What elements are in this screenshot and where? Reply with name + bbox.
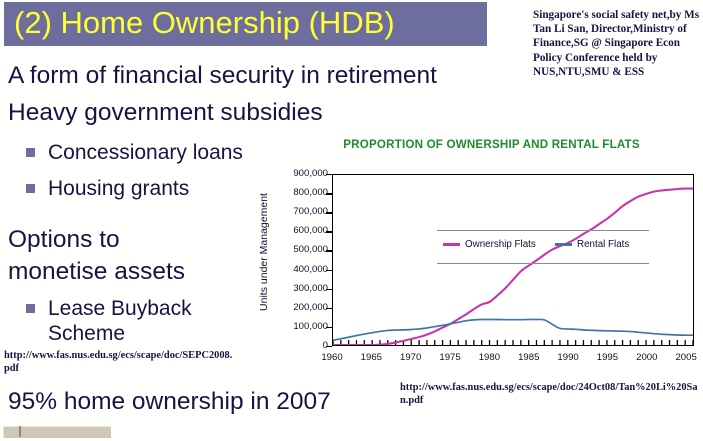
x-tick-label: 2005 (666, 352, 703, 363)
x-tick-label: 1960 (312, 352, 352, 363)
citation-note: Singapore's social safety net,by Ms Tan … (533, 8, 701, 79)
statement-government-subsidies: Heavy government subsidies (8, 99, 323, 127)
chart-container: PROPORTION OF OWNERSHIP AND RENTAL FLATS… (246, 138, 703, 378)
square-bullet-icon (26, 148, 35, 157)
x-tick-label: 1995 (587, 352, 627, 363)
list-item-label: Housing grants (48, 176, 189, 201)
list-item-label: Lease Buyback Scheme (48, 296, 192, 346)
chart-line-ownership-flats (333, 189, 693, 345)
slide-canvas: (2) Home Ownership (HDB) Singapore's soc… (0, 0, 703, 441)
statement-financial-security: A form of financial security in retireme… (8, 62, 437, 90)
x-tick-label: 1990 (548, 352, 588, 363)
x-tick-label: 1985 (509, 352, 549, 363)
legend-label-ownership: Ownership Flats (465, 239, 536, 250)
y-tick-label: 0 (266, 340, 328, 351)
page-title: (2) Home Ownership (HDB) (14, 4, 395, 42)
statement-monetise-assets: monetise assets (8, 258, 185, 286)
source-url-right[interactable]: http://www.fas.nus.edu.sg/ecs/scape/doc/… (400, 382, 700, 407)
y-tick-label: 800,000 (266, 187, 328, 198)
square-bullet-icon (26, 304, 35, 313)
legend-item-ownership-flats: Ownership Flats (443, 239, 536, 250)
x-tick-label: 1980 (469, 352, 509, 363)
list-item: Concessionary loans (26, 140, 243, 165)
x-tick-label: 1970 (391, 352, 431, 363)
y-tick-label: 100,000 (266, 321, 328, 332)
list-item: Housing grants (26, 176, 189, 201)
list-item-label: Concessionary loans (48, 140, 243, 165)
x-tick-label: 1965 (351, 352, 391, 363)
y-tick-label: 700,000 (266, 206, 328, 217)
y-tick-mark (326, 346, 332, 347)
chart-plot-area: Ownership Flats Rental Flats (332, 174, 694, 346)
y-tick-label: 500,000 (266, 244, 328, 255)
legend-label-rental: Rental Flats (577, 239, 629, 250)
y-tick-label: 900,000 (266, 168, 328, 179)
source-url-left[interactable]: http://www.fas.nus.edu.sg/ecs/scape/doc/… (4, 350, 238, 375)
taskbar-separator (19, 426, 21, 437)
chart-legend: Ownership Flats Rental Flats (437, 230, 649, 264)
list-item: Lease Buyback Scheme (26, 296, 192, 346)
legend-item-rental-flats: Rental Flats (555, 239, 629, 250)
y-tick-label: 600,000 (266, 225, 328, 236)
x-tick-label: 2000 (627, 352, 667, 363)
statement-home-ownership-2007: 95% home ownership in 2007 (8, 388, 331, 416)
legend-swatch-ownership-icon (443, 243, 460, 246)
square-bullet-icon (26, 184, 35, 193)
y-tick-label: 400,000 (266, 264, 328, 275)
y-tick-label: 200,000 (266, 302, 328, 313)
y-tick-label: 300,000 (266, 283, 328, 294)
statement-options-to: Options to (8, 226, 120, 254)
chart-line-rental-flats (333, 319, 693, 340)
legend-swatch-rental-icon (555, 243, 572, 246)
chart-title: PROPORTION OF OWNERSHIP AND RENTAL FLATS (284, 138, 699, 151)
x-tick-label: 1975 (430, 352, 470, 363)
